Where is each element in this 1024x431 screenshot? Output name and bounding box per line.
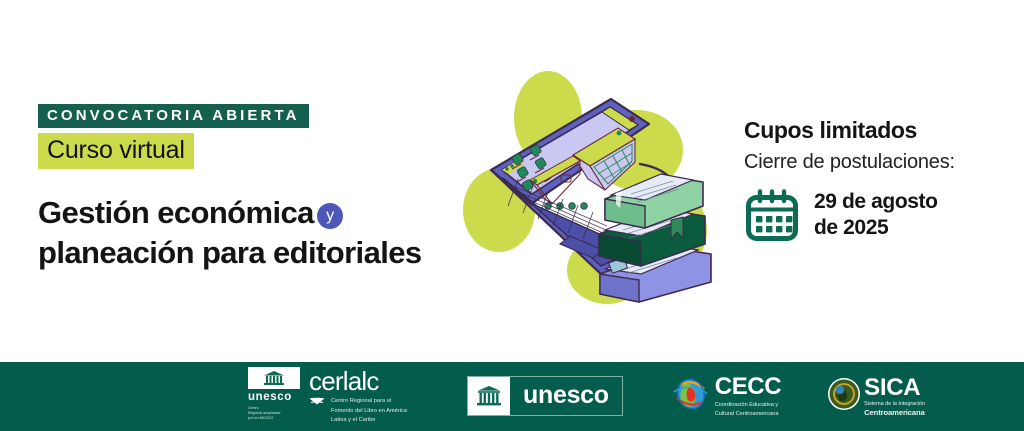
cerlalc-unesco-subtitle: Centro Regional auspiciado por la UNESCO bbox=[248, 406, 300, 421]
course-info-block: CONVOCATORIA ABIERTA Curso virtual Gesti… bbox=[38, 104, 478, 274]
sica-emblem-icon bbox=[827, 377, 861, 416]
sica-wordmark: SICA bbox=[864, 376, 925, 400]
cerlalc-wordmark-block: cerlalc Centro Regional para el Fomento … bbox=[309, 367, 407, 426]
headline-line-1: Gestión económicay bbox=[38, 193, 478, 233]
y-badge: y bbox=[317, 203, 343, 229]
sica-text-block: SICA Sistema de la Integración Centroame… bbox=[864, 375, 925, 417]
sica-subtitle: Sistema de la Integración Centroamerican… bbox=[864, 401, 925, 417]
sica-logo[interactable]: SICA Sistema de la Integración Centroame… bbox=[827, 375, 925, 417]
headline-text-1: Gestión económica bbox=[38, 195, 314, 230]
cecc-logo[interactable]: CECC Coordinación Educativa y Cultural C… bbox=[671, 374, 781, 419]
cerlalc-logo[interactable]: unesco Centro Regional auspiciado por la… bbox=[248, 367, 407, 426]
deadline-date: 29 de agosto de 2025 bbox=[814, 189, 938, 241]
cerlalc-tagline: Centro Regional para el Fomento del Libr… bbox=[331, 397, 407, 426]
course-type-wrap: Curso virtual bbox=[38, 133, 478, 169]
unesco-logo[interactable]: unesco bbox=[467, 376, 623, 416]
laptop-and-books-illustration bbox=[455, 58, 730, 306]
unesco-temple-icon bbox=[468, 377, 510, 415]
deadline-date-row: 29 de agosto de 2025 bbox=[744, 187, 1004, 243]
cerlalc-wordmark: cerlalc bbox=[309, 368, 407, 394]
promotional-banner: CONVOCATORIA ABIERTA Curso virtual Gesti… bbox=[0, 0, 1024, 431]
cecc-subtitle: Coordinación Educativa y Cultural Centro… bbox=[715, 401, 781, 418]
book-stack bbox=[599, 174, 711, 302]
footer-logo-bar: unesco Centro Regional auspiciado por la… bbox=[0, 362, 1024, 431]
calendar-icon bbox=[744, 187, 800, 243]
cerlalc-tagline-row: Centro Regional para el Fomento del Libr… bbox=[309, 397, 407, 426]
logo-strip: unesco Centro Regional auspiciado por la… bbox=[248, 367, 925, 426]
cecc-wordmark: CECC bbox=[715, 375, 781, 399]
cerlalc-swoosh-icon bbox=[309, 397, 325, 406]
cecc-sub-2: Cultural Centroamericana bbox=[715, 410, 781, 419]
unesco-temple-icon-small bbox=[248, 367, 300, 389]
deadline-date-line-1: 29 de agosto bbox=[814, 189, 938, 215]
cerlalc-tagline-3: Latina y el Caribe bbox=[331, 416, 407, 426]
sica-sub-1: Sistema de la Integración bbox=[864, 401, 925, 408]
cerlalc-unesco-mark: unesco Centro Regional auspiciado por la… bbox=[248, 367, 300, 420]
cerlalc-tagline-2: Fomento del Libro en América bbox=[331, 407, 407, 417]
cecc-sub-1: Coordinación Educativa y bbox=[715, 401, 781, 410]
cecc-text-block: CECC Coordinación Educativa y Cultural C… bbox=[715, 374, 781, 418]
sica-sub-2: Centroamericana bbox=[864, 408, 925, 417]
limited-seats-text: Cupos limitados bbox=[744, 118, 1004, 143]
unesco-sub-3: por la UNESCO bbox=[248, 416, 300, 421]
applications-close-label: Cierre de postulaciones: bbox=[744, 151, 1004, 174]
cerlalc-tagline-1: Centro Regional para el bbox=[331, 397, 407, 407]
course-type-tag: Curso virtual bbox=[38, 133, 194, 169]
deadline-block: Cupos limitados Cierre de postulaciones: bbox=[744, 118, 1004, 243]
open-call-tag: CONVOCATORIA ABIERTA bbox=[38, 104, 309, 128]
unesco-wordmark: unesco bbox=[510, 377, 622, 415]
cerlalc-unesco-word: unesco bbox=[248, 391, 300, 404]
page-title: Gestión económicay planeación para edito… bbox=[38, 193, 478, 274]
deadline-date-line-2: de 2025 bbox=[814, 215, 938, 241]
cecc-globe-icon bbox=[671, 374, 711, 419]
headline-line-2: planeación para editoriales bbox=[38, 233, 478, 273]
